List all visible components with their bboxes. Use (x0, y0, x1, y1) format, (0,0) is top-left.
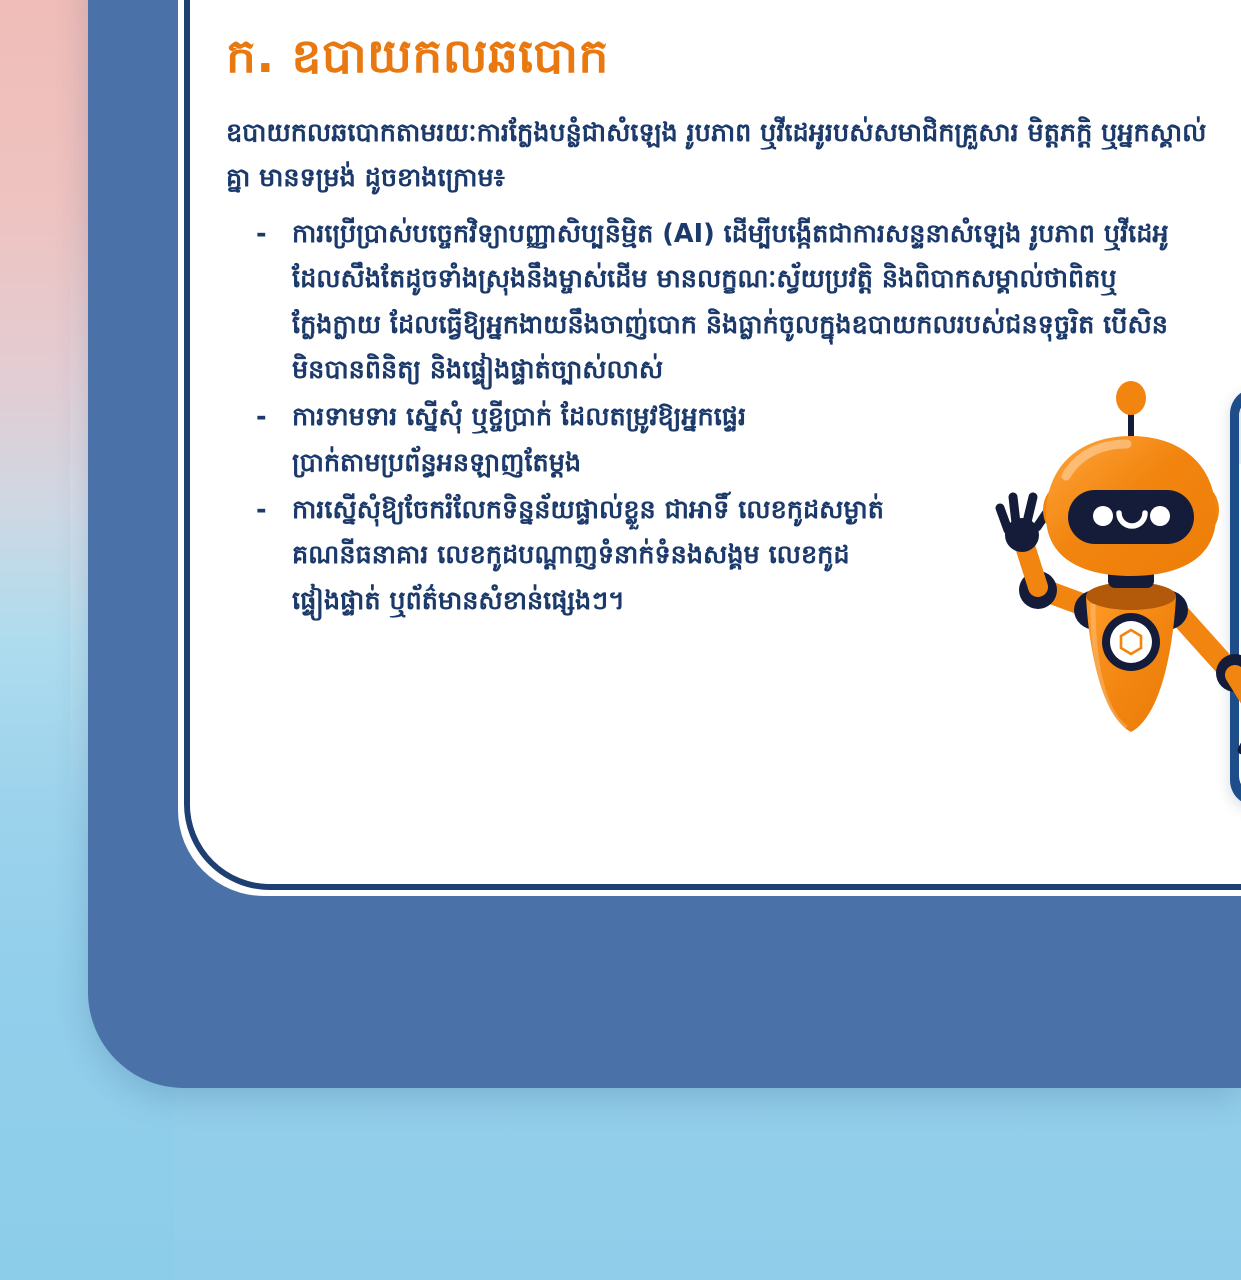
list-item: - ការប្រើប្រាស់បច្ចេកវិទ្យាបញ្ញាសិប្បនិម… (256, 212, 1186, 394)
robot-chest-inner (1110, 621, 1152, 663)
list-item-text: ការទាមទារ ស្នើសុំ ឬខ្ចីប្រាក់ ដែលតម្រូវឱ… (292, 402, 746, 477)
list-item: - ការទាមទារ ស្នើសុំ ឬខ្ចីប្រាក់ ដែលតម្រូ… (256, 395, 776, 486)
list-item: - ការស្នើសុំឱ្យចែករំលែកទិន្នន័យផ្ទាល់ខ្ល… (256, 488, 886, 624)
bullet-dash-icon: - (256, 488, 267, 533)
content-card-inner: ក. ឧបាយកលឆបោក ឧបាយកលឆបោកតាមរយៈការក្លែងបន… (190, 0, 1241, 884)
robot-eye-right (1150, 506, 1170, 526)
content-card: ក. ឧបាយកលឆបោក ឧបាយកលឆបោកតាមរយៈការក្លែងបន… (184, 0, 1241, 890)
list-item-text: ការប្រើប្រាស់បច្ចេកវិទ្យាបញ្ញាសិប្បនិម្ម… (292, 219, 1169, 385)
bullet-dash-icon: - (256, 395, 267, 440)
list-item-text: ការស្នើសុំឱ្យចែករំលែកទិន្នន័យផ្ទាល់ខ្លួន… (292, 495, 884, 616)
robot-torso (1086, 582, 1176, 732)
robot-head (1046, 436, 1216, 576)
page-title: ក. ឧបាយកលឆបោក (226, 30, 1217, 84)
robot-waving-hand (1000, 497, 1050, 552)
robot-eye-left (1093, 506, 1113, 526)
robot-visor (1068, 490, 1194, 544)
robot-antenna (1116, 381, 1146, 442)
bullet-dash-icon: - (256, 212, 267, 257)
chatbot-robot-mascot (980, 380, 1241, 840)
intro-paragraph: ឧបាយកលឆបោកតាមរយៈការក្លែងបន្លំជាសំឡេង រូប… (226, 111, 1217, 202)
antenna-ball (1116, 381, 1146, 415)
illustration-chatbot-scam: ‹ (980, 380, 1241, 840)
